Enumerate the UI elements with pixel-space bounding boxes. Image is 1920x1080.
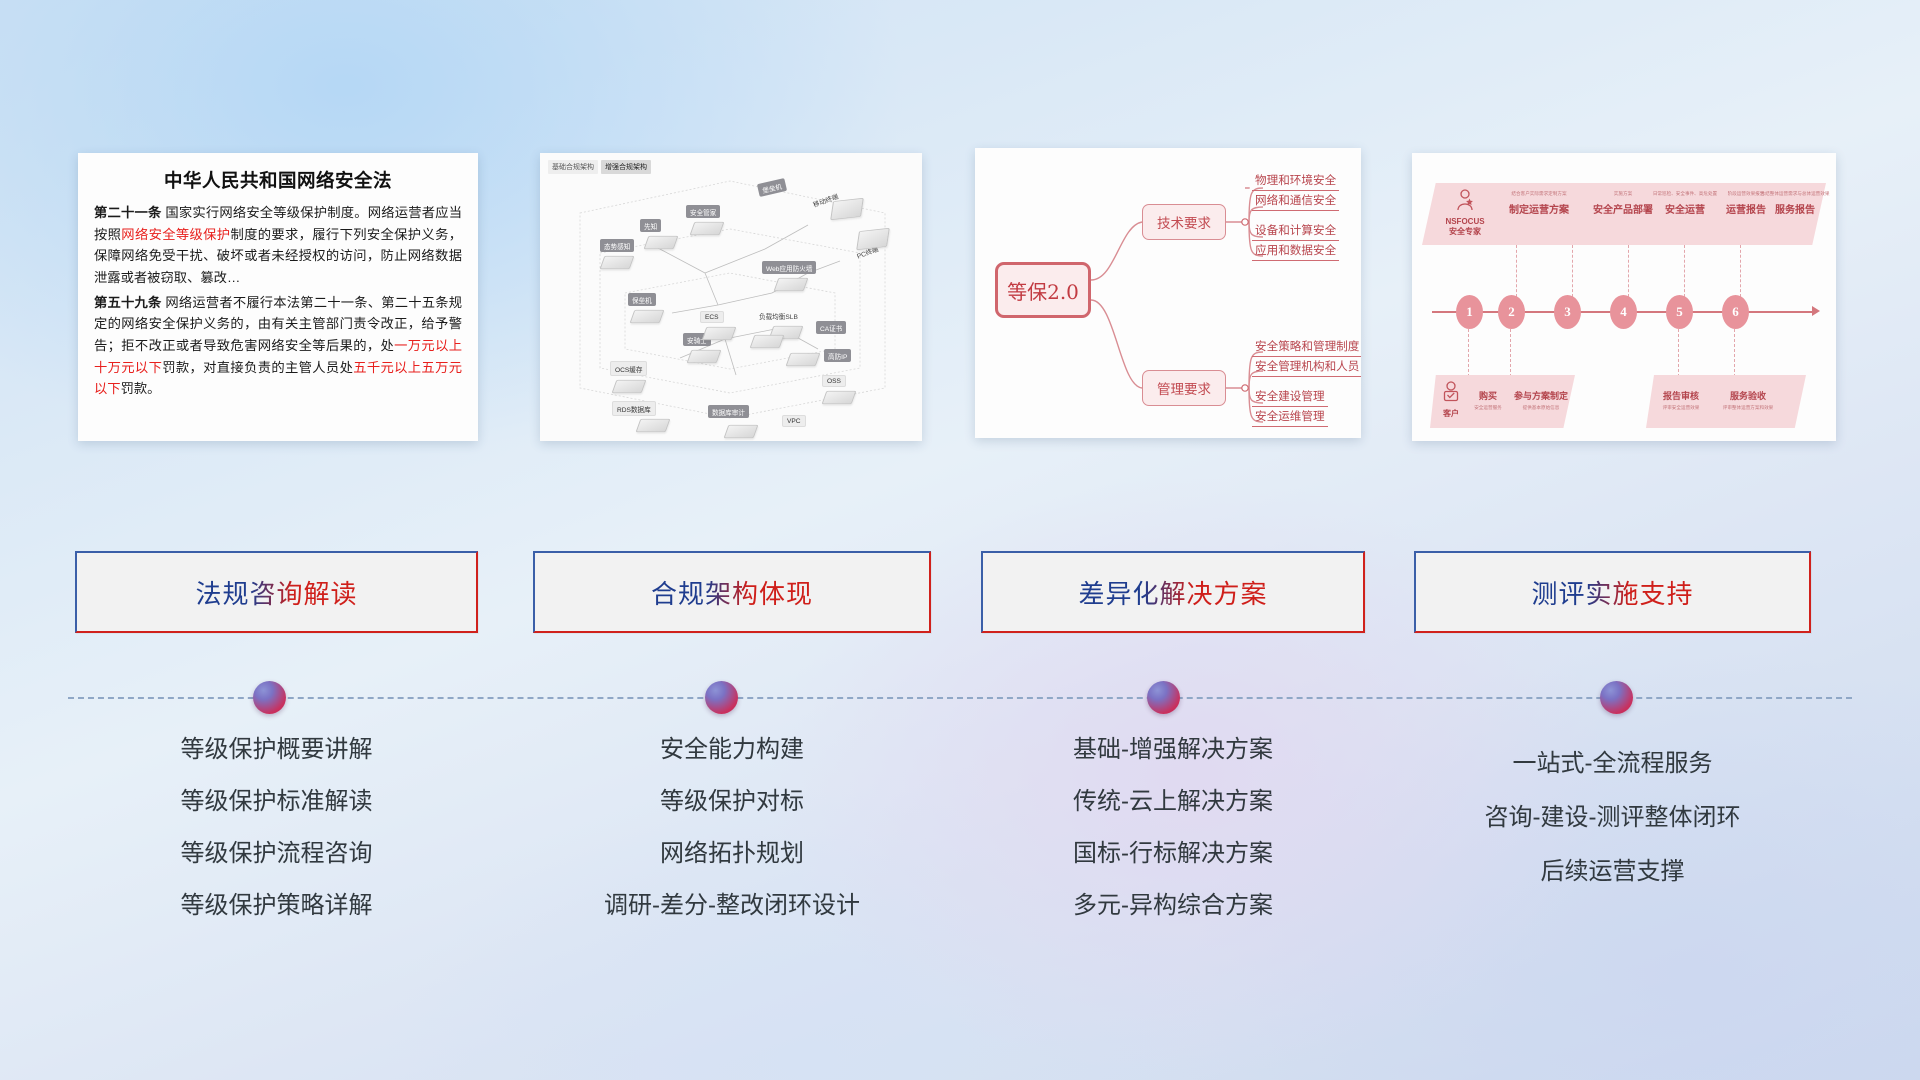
detail-column-1: 等级保护概要讲解 等级保护标准解读 等级保护流程咨询 等级保护策略详解 <box>75 738 478 946</box>
connector-dash <box>1510 329 1511 377</box>
tab-enhanced[interactable]: 增强合规架构 <box>601 160 651 174</box>
detail-item: 等级保护标准解读 <box>75 790 478 814</box>
detail-item: 等级保护概要讲解 <box>75 738 478 762</box>
detail-item: 基础-增强解决方案 <box>981 738 1365 762</box>
arch-node-label: OSS <box>822 375 846 387</box>
mindmap-branch-management[interactable]: 管理要求 <box>1142 370 1226 406</box>
step-sub: 评审整体运营方案和效果 <box>1712 405 1784 411</box>
arch-node-label: RDS数据库 <box>612 401 656 416</box>
law-article-number-2: 第五十九条 <box>94 295 161 310</box>
arch-node-label: 态势感知 <box>600 239 634 252</box>
arch-device-shape <box>786 353 821 366</box>
law-paragraph-1: 第二十一条 国家实行网络安全等级保护制度。网络运营者应当按照网络安全等级保护制度… <box>94 202 462 289</box>
law-seg-highlight: 网络安全等级保护 <box>121 227 230 242</box>
detail-item: 多元-异构综合方案 <box>981 894 1365 918</box>
arch-node-label: Web应用防火墙 <box>762 261 816 274</box>
arch-node-rds-db: RDS数据库 <box>612 401 656 416</box>
detail-item: 等级保护策略详解 <box>75 894 478 918</box>
expert-persona: NSFOCUS安全专家 <box>1434 189 1496 237</box>
arch-node-ca-cert: CA证书 <box>816 321 846 334</box>
timeline-step-bottom-2: 参与方案制定 提供基本原始信息 <box>1508 385 1574 411</box>
stage-title-label: 测评实施支持 <box>1531 574 1693 611</box>
arch-node-oss: OSS <box>822 375 854 406</box>
law-article-number-1: 第二十一条 <box>94 205 161 220</box>
connector-dash <box>1572 245 1573 297</box>
stage-title-label: 合规架构体现 <box>651 574 813 611</box>
timeline-node-3[interactable]: 3 <box>1554 295 1581 329</box>
arch-node-ocs-cache: OCS缓存 <box>610 361 647 395</box>
detail-item: 国标-行标解决方案 <box>981 842 1365 866</box>
timeline-step-bottom-3: 报告审核 评审安全运营效果 <box>1652 385 1710 411</box>
expert-role-label: NSFOCUS安全专家 <box>1434 217 1496 237</box>
arch-node-ecs: ECS <box>700 311 734 342</box>
customer-role-label: 客户 <box>1434 409 1468 419</box>
arch-node-anti-ddos-ip: 高防IP <box>824 349 851 362</box>
mindmap-branch-technical[interactable]: 技术要求 <box>1142 204 1226 240</box>
step-sub: 安全运营服务 <box>1467 405 1509 411</box>
step-main: 购买 <box>1467 389 1509 402</box>
connector-dash <box>1516 245 1517 297</box>
arch-device-shape <box>724 425 759 438</box>
arch-node-label: CA证书 <box>816 321 846 334</box>
timeline-node-6[interactable]: 6 <box>1722 295 1749 329</box>
detail-item: 后续运营支撑 <box>1414 860 1811 884</box>
mindmap-canvas: 等保2.0 技术要求 物理和环境安全 网络和通信安全 设备和计算安全 应用和数据… <box>975 148 1361 438</box>
arch-node-label: VPC <box>782 415 806 427</box>
arch-device-shape <box>856 228 890 250</box>
arch-node-label: 先知 <box>640 219 661 232</box>
mindmap-leaf[interactable]: 物理和环境安全 <box>1252 172 1339 191</box>
customer-persona: 客户 <box>1434 381 1468 419</box>
mindmap-leaf[interactable]: 设备和计算安全 <box>1252 222 1339 241</box>
timeline-canvas: NSFOCUS安全专家 结合客户实际需求定制方案 制定运营方案 实施方案 安全产… <box>1412 153 1836 441</box>
step-sub: 结合客户实际需求定制方案 <box>1496 191 1582 197</box>
detail-item: 调研-差分-整改闭环设计 <box>533 894 931 918</box>
connector-dash <box>1678 329 1679 377</box>
step-main: 制定运营方案 <box>1496 201 1582 216</box>
arch-node-bastion-host: 保垒机 <box>628 293 662 325</box>
architecture-canvas: 基础合规架构 增强合规架构 堡垒机 安全管家 先知 态势感知 保垒机 <box>540 153 922 441</box>
arch-node-label: 数据库审计 <box>708 405 749 418</box>
arch-device-shape <box>636 419 671 432</box>
progress-dot-2[interactable] <box>705 681 738 714</box>
arch-node-security-butler: 安全管家 <box>686 205 722 237</box>
arch-node-situational-awareness: 态势感知 <box>600 239 634 271</box>
mindmap-leaf[interactable]: 安全建设管理 <box>1252 388 1328 407</box>
law-paragraph-2: 第五十九条 网络运营者不履行本法第二十一条、第二十五条规定的网络安全保护义务的，… <box>94 292 462 400</box>
timeline-node-1[interactable]: 1 <box>1456 295 1483 329</box>
arch-node-label: OCS缓存 <box>610 361 647 376</box>
step-main: 参与方案制定 <box>1508 389 1574 402</box>
mindmap-leaf[interactable]: 安全管理机构和人员 <box>1252 358 1361 377</box>
law-seg: 罚款，对直接负责的主管人员处 <box>162 360 353 375</box>
arch-node-label: 负载均衡SLB <box>755 309 802 322</box>
timeline-node-4[interactable]: 4 <box>1610 295 1637 329</box>
arch-node-waf: Web应用防火墙 <box>762 261 816 293</box>
arch-node-vpc: VPC <box>782 415 806 427</box>
detail-column-3: 基础-增强解决方案 传统-云上解决方案 国标-行标解决方案 多元-异构综合方案 <box>981 738 1365 946</box>
arch-node-xianzhi: 先知 <box>640 219 676 251</box>
mindmap-collapse-handle <box>1242 219 1248 225</box>
arch-node-label: 安全管家 <box>686 205 720 218</box>
connector-dash <box>1734 329 1735 377</box>
poster-canvas: 中华人民共和国网络安全法 第二十一条 国家实行网络安全等级保护制度。网络运营者应… <box>0 0 1920 1080</box>
stage-title-box-4[interactable]: 测评实施支持 <box>1414 551 1811 633</box>
step-sub: 总结整体运营需求与总体运营效果 <box>1752 191 1836 197</box>
arch-device-shape <box>750 335 785 348</box>
timeline-node-2[interactable]: 2 <box>1498 295 1525 329</box>
stage-title-box-1[interactable]: 法规咨询解读 <box>75 551 478 633</box>
architecture-diagram-card: 基础合规架构 增强合规架构 堡垒机 安全管家 先知 态势感知 保垒机 <box>540 153 922 441</box>
step-sub: 评审安全运营效果 <box>1652 405 1710 411</box>
connector-dash <box>1628 245 1629 297</box>
connector-dash <box>1684 245 1685 297</box>
mindmap-leaf[interactable]: 应用和数据安全 <box>1252 242 1339 261</box>
stage-title-label: 法规咨询解读 <box>195 574 357 611</box>
stage-title-box-2[interactable]: 合规架构体现 <box>533 551 931 633</box>
detail-item: 网络拓扑规划 <box>533 842 931 866</box>
timeline-step-bottom-4: 服务验收 评审整体运营方案和效果 <box>1712 385 1784 411</box>
detail-item: 咨询-建设-测评整体闭环 <box>1414 806 1811 830</box>
arch-node-label: 保垒机 <box>628 293 656 306</box>
detail-item: 一站式-全流程服务 <box>1414 752 1811 776</box>
law-seg: 罚款。 <box>121 381 161 396</box>
detail-item: 等级保护对标 <box>533 790 931 814</box>
architecture-connectors <box>540 153 922 441</box>
customer-icon <box>1442 381 1460 403</box>
arch-node-db-audit: 数据库审计 <box>708 405 749 418</box>
detail-item: 安全能力构建 <box>533 738 931 762</box>
step-main: 服务验收 <box>1712 389 1784 402</box>
architecture-tabs[interactable]: 基础合规架构 增强合规架构 <box>548 160 651 174</box>
mindmap-leaf[interactable]: 安全策略和管理制度 <box>1252 338 1361 357</box>
mindmap-card: 等保2.0 技术要求 物理和环境安全 网络和通信安全 设备和计算安全 应用和数据… <box>975 148 1361 438</box>
timeline-step-bottom-1: 购买 安全运营服务 <box>1467 385 1509 411</box>
mindmap-collapse-handle <box>1242 385 1248 391</box>
step-sub: 提供基本原始信息 <box>1508 405 1574 411</box>
detail-item: 传统-云上解决方案 <box>981 790 1365 814</box>
arch-device-shape <box>830 198 864 220</box>
arch-node-label: 高防IP <box>824 349 851 362</box>
detail-column-4: 一站式-全流程服务 咨询-建设-测评整体闭环 后续运营支撑 <box>1414 752 1811 914</box>
progress-dashed-line <box>68 697 1852 699</box>
stage-title-label: 差异化解决方案 <box>1078 574 1267 611</box>
expert-icon <box>1455 189 1475 211</box>
timeline-arrow-icon <box>1812 306 1820 316</box>
service-timeline-card: NSFOCUS安全专家 结合客户实际需求定制方案 制定运营方案 实施方案 安全产… <box>1412 153 1836 441</box>
stage-title-box-3[interactable]: 差异化解决方案 <box>981 551 1365 633</box>
mindmap-root-node[interactable]: 等保2.0 <box>995 262 1091 318</box>
progress-dot-1[interactable] <box>253 681 286 714</box>
timeline-step-top-5: 总结整体运营需求与总体运营效果 服务报告 <box>1752 191 1836 216</box>
step-main: 服务报告 <box>1752 201 1836 216</box>
progress-dot-4[interactable] <box>1600 681 1633 714</box>
tab-basic[interactable]: 基础合规架构 <box>548 160 598 174</box>
law-title: 中华人民共和国网络安全法 <box>94 167 462 193</box>
timeline-node-5[interactable]: 5 <box>1666 295 1693 329</box>
mindmap-leaf[interactable]: 安全运维管理 <box>1252 408 1328 427</box>
law-text-card: 中华人民共和国网络安全法 第二十一条 国家实行网络安全等级保护制度。网络运营者应… <box>78 153 478 441</box>
arch-node-label: ECS <box>700 311 724 323</box>
mindmap-leaf[interactable]: 网络和通信安全 <box>1252 192 1339 211</box>
step-main: 报告审核 <box>1652 389 1710 402</box>
detail-item: 等级保护流程咨询 <box>75 842 478 866</box>
timeline-step-top-1: 结合客户实际需求定制方案 制定运营方案 <box>1496 191 1582 216</box>
progress-dot-3[interactable] <box>1147 681 1180 714</box>
connector-dash <box>1468 329 1469 377</box>
detail-column-2: 安全能力构建 等级保护对标 网络拓扑规划 调研-差分-整改闭环设计 <box>533 738 931 946</box>
connector-dash <box>1740 245 1741 297</box>
